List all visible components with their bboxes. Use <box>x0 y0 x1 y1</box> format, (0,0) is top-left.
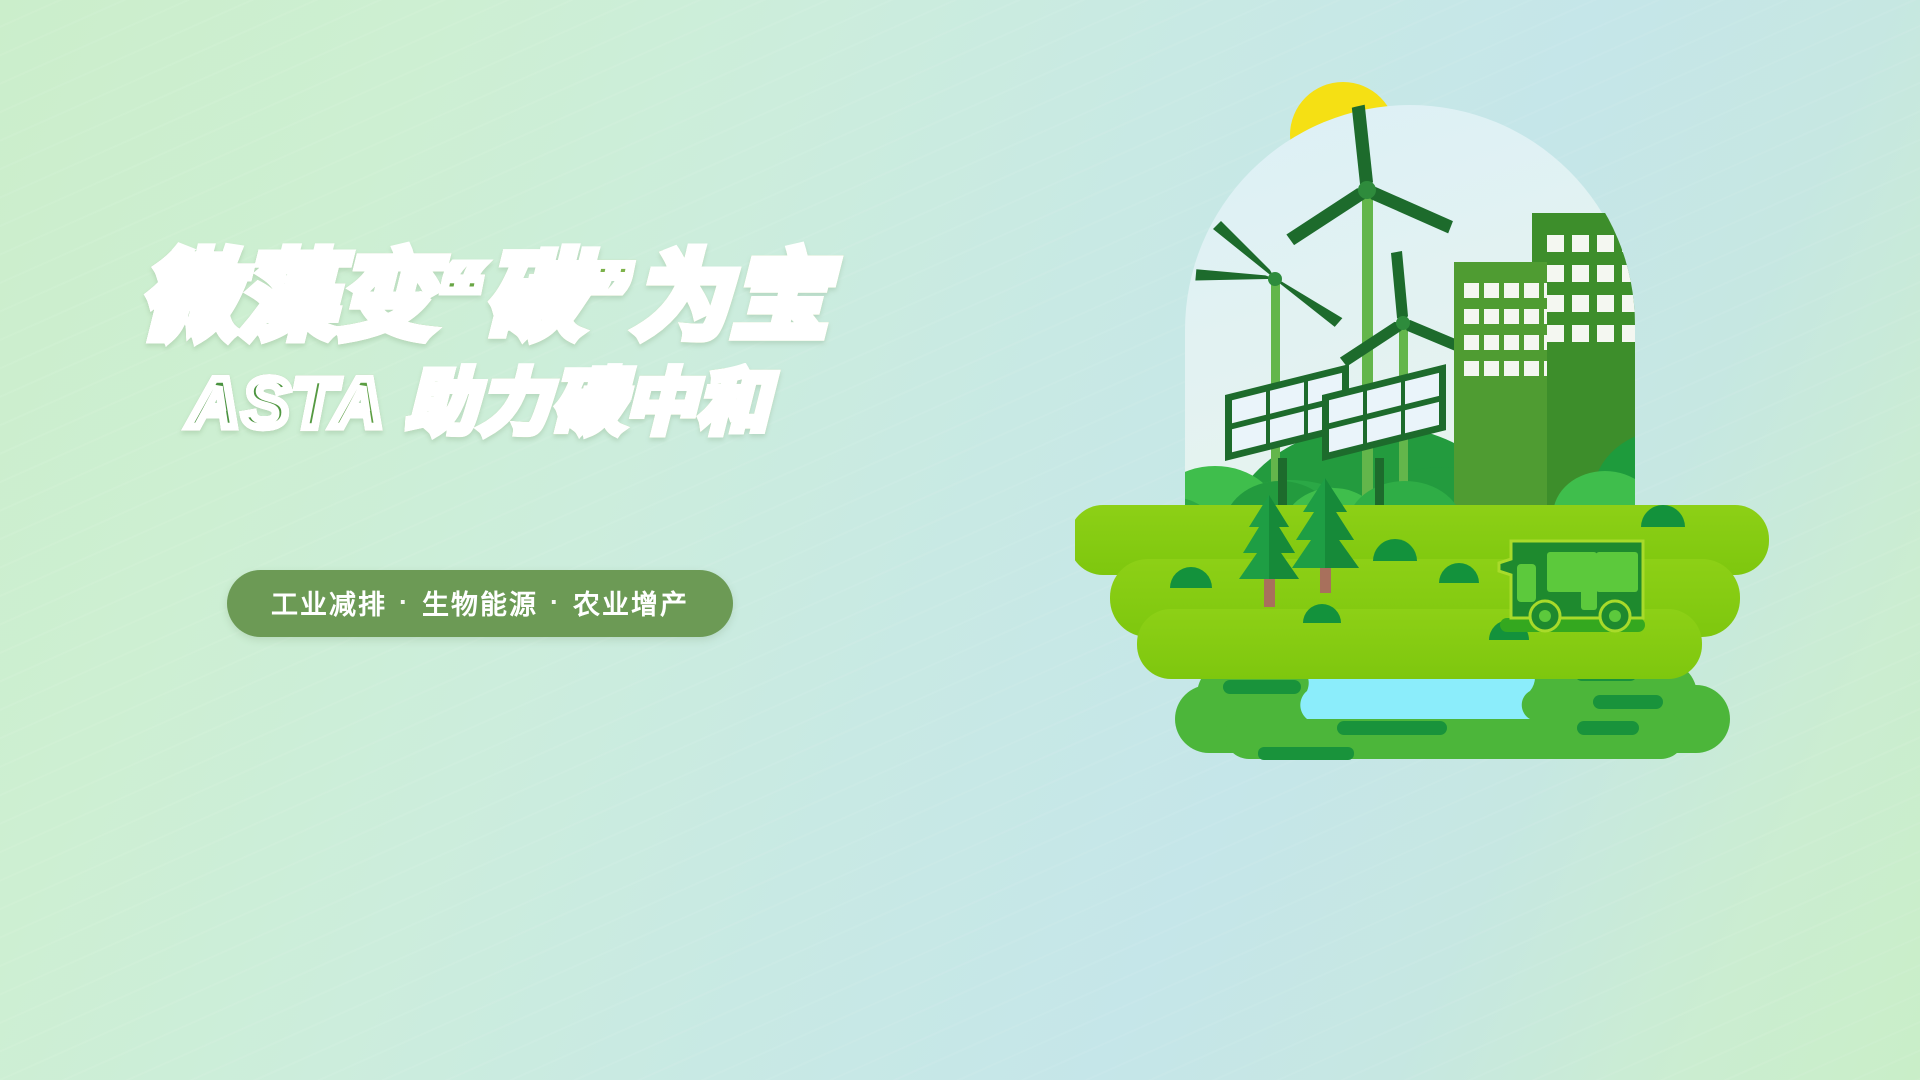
status-badge: 工业减排 · 生物能源 · 农业增产 <box>227 570 733 637</box>
eco-banner: 微藻变“碳”为宝 ASTA 助力碳中和 工业减排 · 生物能源 · 农业增产 <box>0 0 1920 1080</box>
text-block: 微藻变“碳”为宝 ASTA 助力碳中和 工业减排 · 生物能源 · 农业增产 <box>0 250 960 670</box>
badge-item-bioenergy: 生物能源 <box>422 583 538 622</box>
page-subtitle: ASTA 助力碳中和 <box>0 368 960 438</box>
badge-separator: · <box>538 587 573 618</box>
badge-item-agriculture: 农业增产 <box>573 583 689 622</box>
grass-platform <box>1075 505 1769 679</box>
illustration <box>1075 75 1815 775</box>
badge-separator: · <box>387 587 422 618</box>
page-title: 微藻变“碳”为宝 <box>0 250 960 346</box>
electric-bus <box>1499 541 1645 632</box>
building-left <box>1454 262 1547 513</box>
badge-item-industrial: 工业减排 <box>271 583 387 622</box>
